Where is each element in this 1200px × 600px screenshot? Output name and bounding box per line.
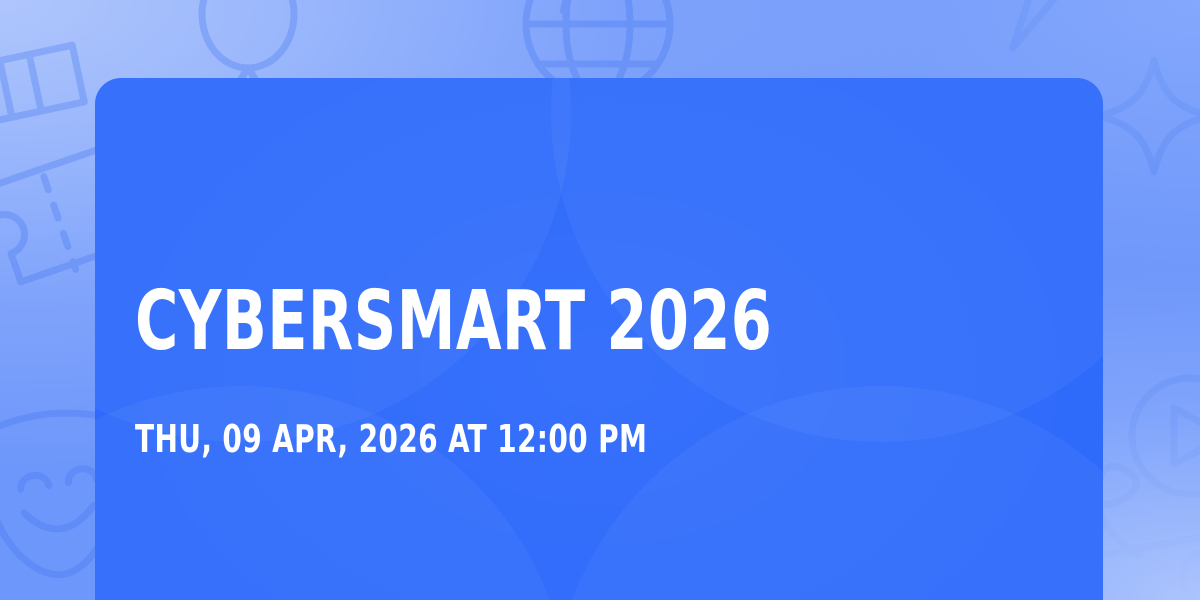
event-card[interactable]: CYBERSMART 2026 THU, 09 APR, 2026 AT 12:…	[95, 78, 1103, 600]
event-title: CYBERSMART 2026	[135, 274, 772, 370]
card-content: CYBERSMART 2026 THU, 09 APR, 2026 AT 12:…	[135, 78, 1063, 600]
event-banner: CYBERSMART 2026 THU, 09 APR, 2026 AT 12:…	[0, 0, 1200, 600]
event-datetime: THU, 09 APR, 2026 AT 12:00 PM	[135, 416, 647, 462]
